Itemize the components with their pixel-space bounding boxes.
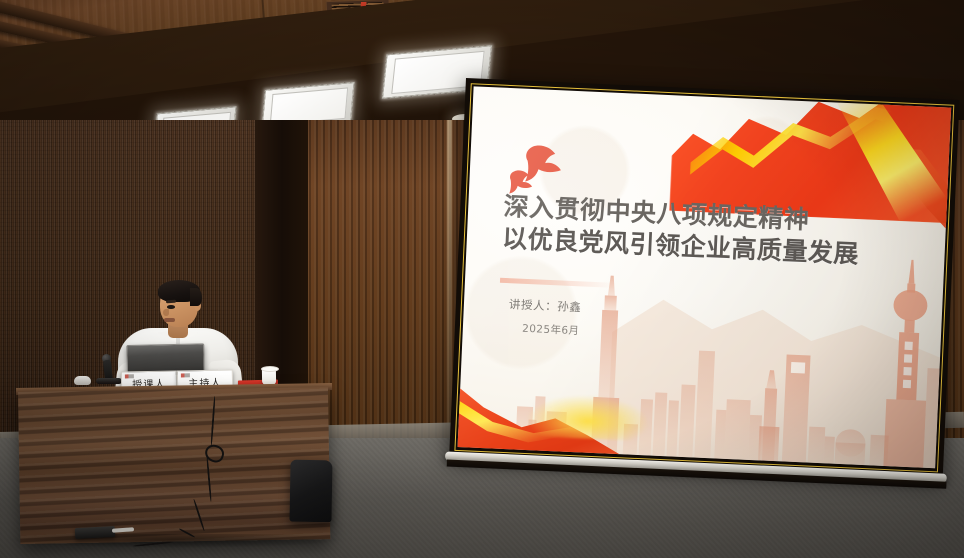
projection-screen[interactable]: 深入贯彻中央八项规定精神 以优良党风引领企业高质量发展 讲授人：孙鑫 2025年… [448, 78, 963, 500]
podium-desk [18, 387, 330, 544]
screen-frame: 深入贯彻中央八项规定精神 以优良党风引领企业高质量发展 讲授人：孙鑫 2025年… [449, 78, 959, 478]
peace-dove-icon [500, 138, 574, 199]
presentation-slide: 深入贯彻中央八项规定精神 以优良党风引领企业高质量发展 讲授人：孙鑫 2025年… [458, 86, 952, 468]
cup-rim [261, 366, 279, 372]
person-eye [167, 305, 175, 309]
conference-room-scene: 深入贯彻中央八项规定精神 以优良党风引领企业高质量发展 讲授人：孙鑫 2025年… [0, 0, 964, 558]
bag-icon [289, 460, 332, 523]
slide-date: 2025年6月 [522, 321, 580, 339]
slide-presenter: 讲授人：孙鑫 [509, 296, 582, 315]
microphone-base [96, 378, 122, 384]
person-hair-side [190, 288, 202, 306]
podium-floor-shadow [10, 534, 340, 548]
power-strip-icon [75, 526, 116, 539]
person-mouth [164, 318, 175, 322]
mouse-icon [74, 376, 91, 385]
person-nose [163, 309, 169, 316]
gold-ribbon-glow [525, 392, 651, 441]
podium-wood-grain [18, 387, 330, 544]
